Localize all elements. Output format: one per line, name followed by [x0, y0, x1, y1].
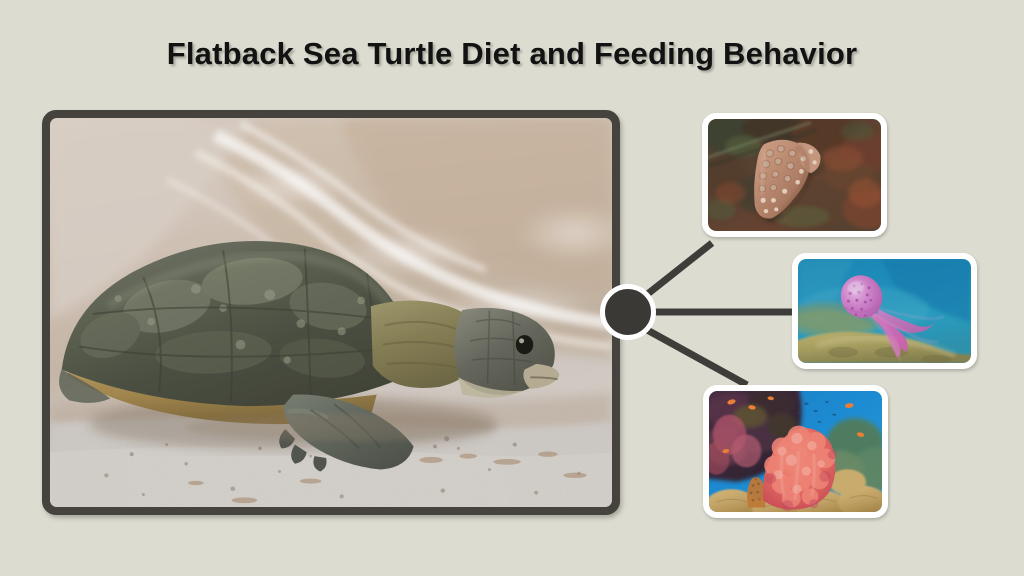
connector-to-soft-coral: [640, 326, 747, 385]
infographic-canvas: Flatback Sea Turtle Diet and Feeding Beh…: [0, 0, 1024, 576]
thumbnail-sea-cucumber[interactable]: [702, 113, 887, 237]
jellyfish-photo: [798, 259, 971, 363]
main-photo-sea-turtle: [50, 118, 612, 507]
thumbnail-jellyfish[interactable]: [792, 253, 977, 369]
soft-coral-photo: [709, 391, 882, 512]
sea-cucumber-photo: [708, 119, 881, 231]
diet-hub-node[interactable]: [600, 284, 656, 340]
thumbnail-soft-coral[interactable]: [703, 385, 888, 518]
main-photo-frame[interactable]: [42, 110, 620, 515]
connector-to-sea-cucumber: [640, 243, 712, 300]
